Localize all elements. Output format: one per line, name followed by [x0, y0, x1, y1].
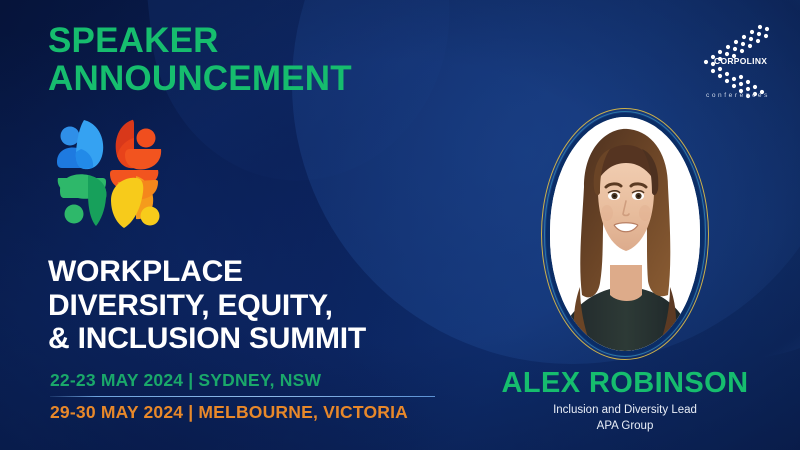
- event-title: WORKPLACE DIVERSITY, EQUITY, & INCLUSION…: [48, 255, 468, 356]
- speaker-organisation: APA Group: [460, 419, 790, 434]
- pinwheel-segment-bottom-left: [58, 174, 107, 226]
- brand-logo: CORPOLINX conferences: [688, 14, 788, 108]
- event-dates: 22-23 MAY 2024 | SYDNEY, NSW 29-30 MAY 2…: [50, 369, 435, 424]
- date-divider: [50, 396, 435, 397]
- brand-name: CORPOLINX: [714, 56, 767, 66]
- pinwheel-segment-bottom-right: [111, 176, 160, 228]
- pinwheel-segment-top-left: [57, 120, 103, 169]
- speaker-photo-frame: [541, 108, 709, 360]
- speaker-announcement-poster: SPEAKER ANNOUNCEMENT: [0, 0, 800, 450]
- brand-tagline: conferences: [688, 92, 788, 99]
- speaker-name: ALEX ROBINSON: [460, 368, 790, 398]
- speaker-headshot: [550, 117, 700, 351]
- date-line-melbourne: 29-30 MAY 2024 | MELBOURNE, VICTORIA: [50, 401, 435, 424]
- speaker-details: ALEX ROBINSON Inclusion and Diversity Le…: [460, 368, 790, 434]
- four-people-pinwheel-icon: [48, 118, 172, 230]
- kicker-heading: SPEAKER ANNOUNCEMENT: [48, 22, 352, 98]
- speaker-role: Inclusion and Diversity Lead: [460, 403, 790, 418]
- date-line-sydney: 22-23 MAY 2024 | SYDNEY, NSW: [50, 369, 435, 392]
